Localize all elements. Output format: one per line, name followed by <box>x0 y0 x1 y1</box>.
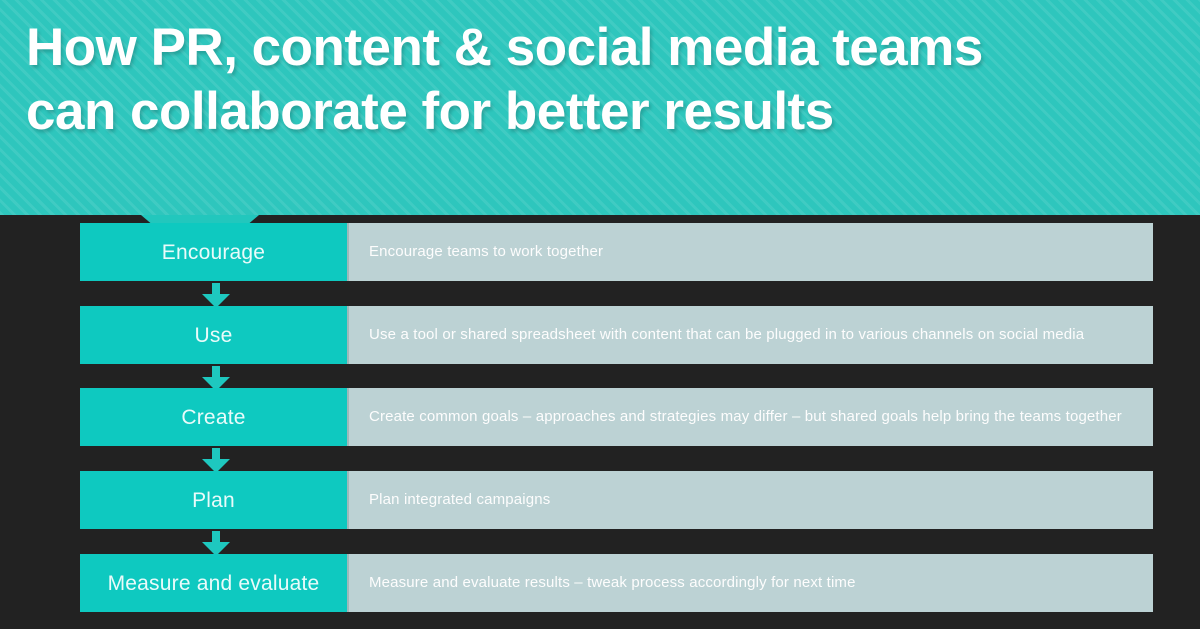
flow-step-row[interactable]: Create Create common goals – approaches … <box>80 388 1153 446</box>
flow-step-description-text: Plan integrated campaigns <box>369 490 550 510</box>
flow-step-description-text: Encourage teams to work together <box>369 242 603 262</box>
flow-step-label-text: Measure and evaluate <box>108 571 320 596</box>
flow-step-description-encourage: Encourage teams to work together <box>347 223 1153 281</box>
flow-step-description-text: Measure and evaluate results – tweak pro… <box>369 573 856 593</box>
flow-step-label-measure-and-evaluate[interactable]: Measure and evaluate <box>80 554 347 612</box>
page-title: How PR, content & social media teams can… <box>26 16 1146 144</box>
flow-arrow-down-icon <box>202 531 230 556</box>
flow-step-description-measure-and-evaluate: Measure and evaluate results – tweak pro… <box>347 554 1153 612</box>
header-banner: How PR, content & social media teams can… <box>0 0 1200 215</box>
flow-step-row[interactable]: Plan Plan integrated campaigns <box>80 471 1153 529</box>
flow-step-description-text: Use a tool or shared spreadsheet with co… <box>369 325 1084 345</box>
flow-step-label-text: Plan <box>192 488 235 513</box>
flow-step-description-text: Create common goals – approaches and str… <box>369 407 1122 427</box>
flow-step-description-use: Use a tool or shared spreadsheet with co… <box>347 306 1153 364</box>
flow-arrow-down-icon <box>202 283 230 308</box>
flow-step-label-create[interactable]: Create <box>80 388 347 446</box>
flow-step-label-text: Create <box>181 405 245 430</box>
flow-step-label-use[interactable]: Use <box>80 306 347 364</box>
flow-step-label-plan[interactable]: Plan <box>80 471 347 529</box>
flow-arrow-down-icon <box>202 448 230 473</box>
flow-step-description-create: Create common goals – approaches and str… <box>347 388 1153 446</box>
flow-step-label-encourage[interactable]: Encourage <box>80 223 347 281</box>
flow-step-row[interactable]: Measure and evaluate Measure and evaluat… <box>80 554 1153 612</box>
flow-step-row[interactable]: Encourage Encourage teams to work togeth… <box>80 223 1153 281</box>
flow-step-label-text: Use <box>195 323 233 348</box>
flow-step-row[interactable]: Use Use a tool or shared spreadsheet wit… <box>80 306 1153 364</box>
slide-canvas: How PR, content & social media teams can… <box>0 0 1200 629</box>
flow-step-description-plan: Plan integrated campaigns <box>347 471 1153 529</box>
process-flow-diagram: Encourage Encourage teams to work togeth… <box>0 215 1200 629</box>
flow-step-label-text: Encourage <box>162 240 265 265</box>
